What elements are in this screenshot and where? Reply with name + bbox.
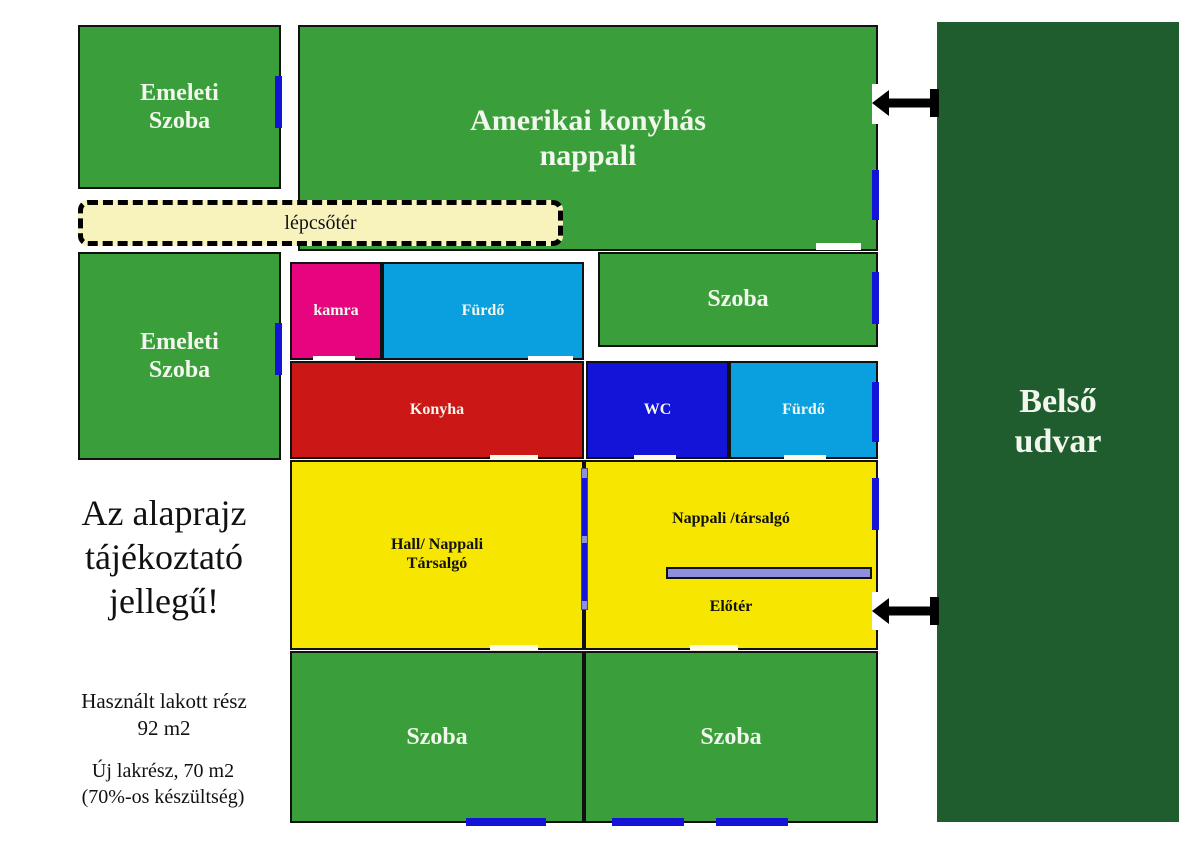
room-label-hall-nappali-tarsalgo: Hall/ Nappali Társalgó — [391, 536, 483, 574]
access-arrow-bottom — [872, 593, 940, 629]
room-nappali-tarsalgo-elotér — [584, 460, 878, 650]
area-note-used-line-2: 92 m2 — [137, 716, 190, 740]
area-belso-udvar: Belső udvar — [937, 22, 1179, 822]
window-marker-partition-hall — [582, 478, 587, 536]
window-marker-amerikai-konyhas-right — [872, 170, 879, 220]
room-label-furdo-lower: Fürdő — [782, 401, 825, 420]
arrow-shaft-top — [882, 99, 934, 108]
room-label-emeleti-szoba-top: Emeleti Szoba — [140, 79, 219, 136]
window-marker-szoba-bottom-right-2 — [716, 818, 788, 826]
divider-bar-elotér — [666, 567, 872, 579]
disclaimer-line-1: Az alaprajz — [82, 493, 247, 533]
arrow-tail-top — [930, 89, 939, 117]
area-lepcsoter: lépcsőtér — [78, 200, 563, 246]
room-label-wc: WC — [644, 401, 672, 420]
area-note-new-line-2: (70%-os készültség) — [82, 786, 245, 808]
window-marker-szoba-mid-right — [872, 272, 879, 324]
window-marker-emeleti-bottom-right — [275, 323, 282, 375]
room-szoba-bottom-right: Szoba — [584, 651, 878, 823]
room-konyha: Konyha — [290, 361, 584, 459]
room-wc: WC — [586, 361, 729, 459]
window-marker-szoba-bottom-right-1 — [612, 818, 684, 826]
room-label-konyha: Konyha — [410, 401, 464, 420]
area-label-lepcsoter: lépcsőtér — [284, 212, 356, 235]
room-label-furdo-upper: Fürdő — [462, 302, 505, 321]
room-label-elotér: Előtér — [584, 598, 878, 616]
room-label-szoba-bottom-right: Szoba — [700, 723, 761, 751]
floor-plan-canvas: Emeleti Szoba Amerikai konyhás nappali l… — [0, 0, 1200, 847]
window-marker-lounge-right — [872, 478, 879, 530]
area-note-used-line-1: Használt lakott rész — [81, 689, 247, 713]
room-emeleti-szoba-top: Emeleti Szoba — [78, 25, 281, 189]
access-arrow-top — [872, 85, 940, 121]
disclaimer-note: Az alaprajz tájékoztató jellegű! — [40, 492, 288, 624]
arrow-tail-bottom — [930, 597, 939, 625]
window-marker-szoba-bottom-left — [466, 818, 546, 826]
room-szoba-bottom-left: Szoba — [290, 651, 584, 823]
window-marker-emeleti-top-right — [275, 76, 282, 128]
room-label-szoba-mid-right: Szoba — [707, 285, 768, 313]
disclaimer-line-2: tájékoztató — [85, 537, 243, 577]
room-label-emeleti-szoba-bottom: Emeleti Szoba — [140, 328, 219, 385]
room-furdo-lower: Fürdő — [729, 361, 878, 459]
room-emeleti-szoba-bottom: Emeleti Szoba — [78, 252, 281, 460]
area-note-new: Új lakrész, 70 m2 (70%-os készültség) — [34, 758, 292, 810]
room-label-nappali-tarsalgo: Nappali /társalgó — [584, 510, 878, 528]
room-label-kamra: kamra — [313, 302, 358, 321]
window-marker-partition-hall-2 — [582, 543, 587, 601]
room-hall-nappali-tarsalgo: Hall/ Nappali Társalgó — [290, 460, 584, 650]
area-note-new-line-1: Új lakrész, 70 m2 — [92, 760, 234, 782]
room-label-szoba-bottom-left: Szoba — [406, 723, 467, 751]
disclaimer-line-3: jellegű! — [109, 581, 219, 621]
window-marker-furdo-lower-right — [872, 382, 879, 442]
arrow-shaft-bottom — [882, 607, 934, 616]
room-szoba-mid-right: Szoba — [598, 252, 878, 347]
room-kamra: kamra — [290, 262, 382, 360]
door-gap-amerikai-konyhas-bottom — [816, 243, 861, 250]
area-label-belso-udvar: Belső udvar — [1015, 382, 1102, 462]
area-note-used: Használt lakott rész 92 m2 — [40, 688, 288, 743]
room-label-amerikai-konyhas-nappali: Amerikai konyhás nappali — [470, 103, 706, 174]
room-furdo-upper: Fürdő — [382, 262, 584, 360]
